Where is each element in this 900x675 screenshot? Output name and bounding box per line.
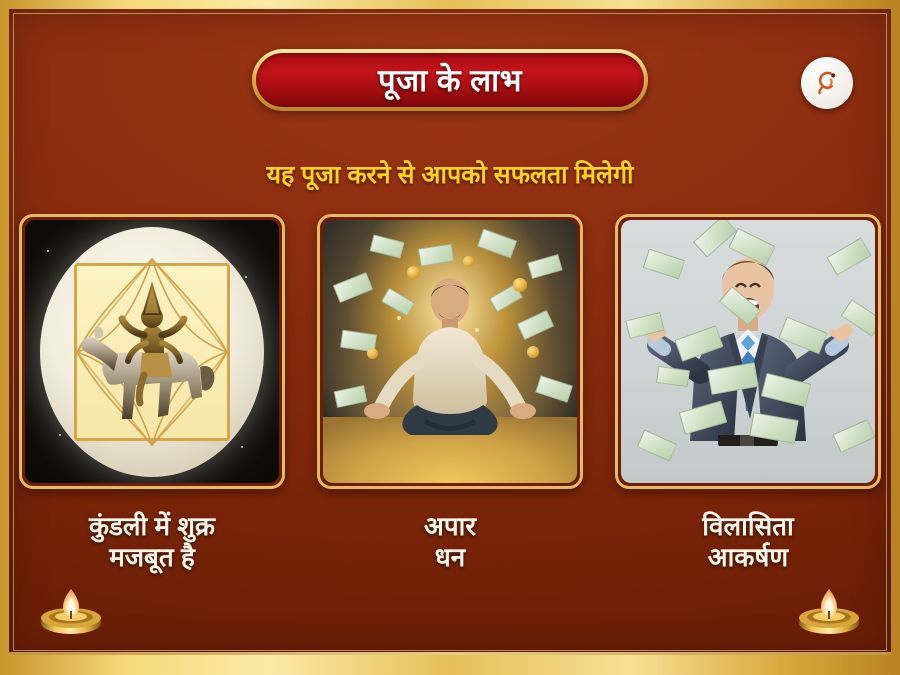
meditating-man-money-rain-image (323, 220, 577, 483)
caption-line-2: आकर्षण (702, 542, 793, 573)
benefit-card-2-frame (317, 214, 583, 489)
benefit-card-2[interactable]: अपार धन (317, 214, 583, 572)
banner-inner-field: पूजा के लाभ यह पूजा करने से आपको सफलता म… (9, 9, 891, 655)
meditating-figure (355, 269, 545, 449)
benefit-card-1-caption: कुंडली में शुक्र मजबूत है (89, 511, 215, 572)
shukra-deity-on-horse-yantra-image (25, 220, 279, 483)
title-badge: पूजा के लाभ (252, 49, 648, 111)
caption-line-2: धन (424, 542, 476, 573)
businessman-cash-shower-image (621, 220, 875, 483)
benefit-card-3-frame (615, 214, 881, 489)
caption-line-1: कुंडली में शुक्र (89, 511, 215, 542)
page-title: पूजा के लाभ (378, 65, 522, 96)
benefit-card-2-caption: अपार धन (424, 511, 476, 572)
benefit-card-1-frame (19, 214, 285, 489)
shukra-figure (52, 247, 252, 467)
caption-line-1: अपार (424, 511, 476, 542)
puja-benefits-banner: पूजा के लाभ यह पूजा करने से आपको सफलता म… (0, 0, 900, 675)
title-badge-inner: पूजा के लाभ (256, 53, 644, 107)
caption-line-1: विलासिता (702, 511, 793, 542)
benefit-card-1[interactable]: कुंडली में शुक्र मजबूत है (19, 214, 285, 572)
benefit-card-3-caption: विलासिता आकर्षण (702, 511, 793, 572)
diya-lamp-icon-left (33, 577, 109, 637)
om-flame-logo-icon (801, 57, 853, 109)
banner-subtitle: यह पूजा करने से आपको सफलता मिलेगी (9, 157, 891, 191)
benefit-cards-row: कुंडली में शुक्र मजबूत है (9, 214, 891, 572)
diya-lamp-icon-right (791, 577, 867, 637)
caption-line-2: मजबूत है (89, 542, 215, 573)
benefit-card-3[interactable]: विलासिता आकर्षण (615, 214, 881, 572)
